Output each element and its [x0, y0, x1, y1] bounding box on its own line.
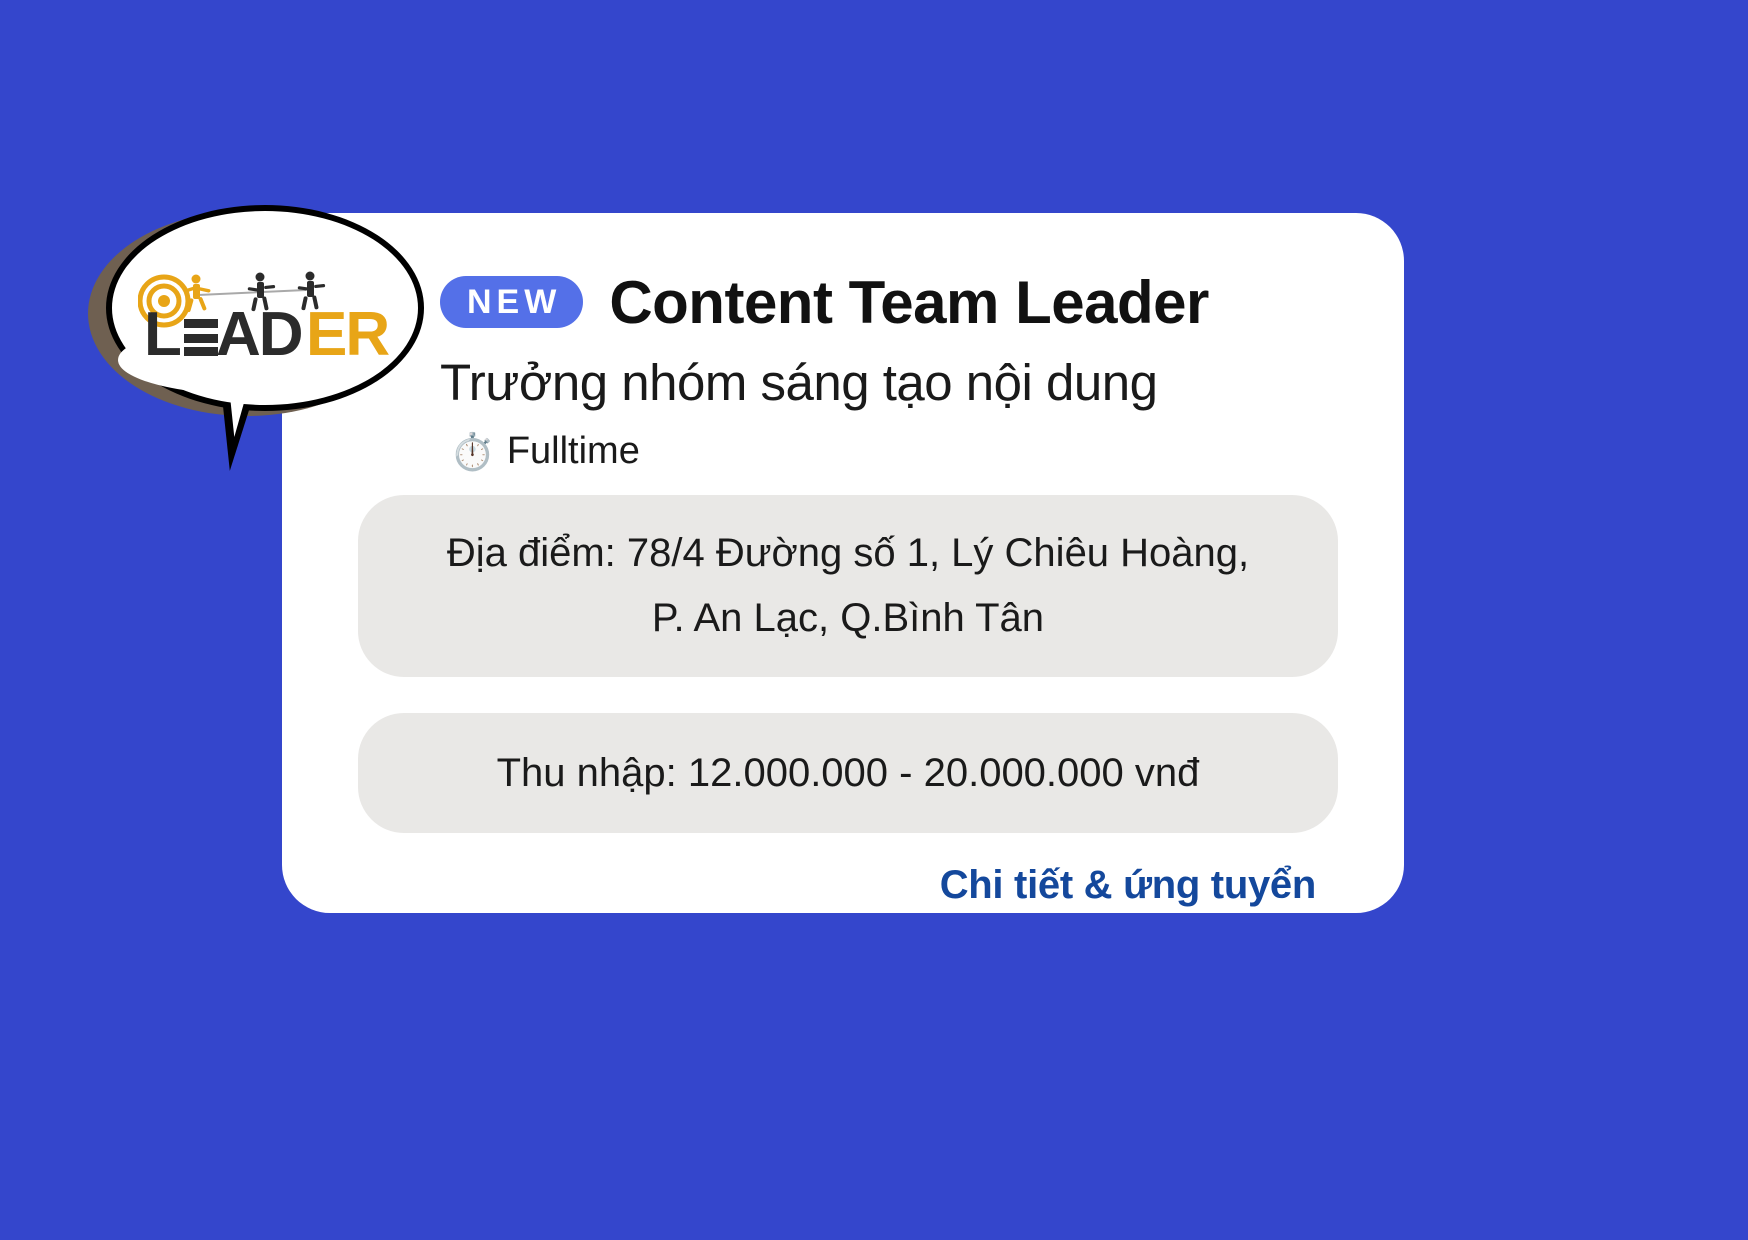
job-card-content: NEW Content Team Leader Trưởng nhóm sáng…: [440, 265, 1330, 873]
leader-wordmark-dark: L: [144, 300, 180, 359]
cta-row: Chi tiết & ứng tuyển: [358, 863, 1338, 908]
salary-line-1: Thu nhập: 12.000.000 - 20.000.000 vnđ: [398, 741, 1298, 806]
employment-type: ⏱️ Fulltime: [450, 430, 1330, 473]
job-title-row: NEW Content Team Leader: [440, 265, 1330, 339]
apply-details-link[interactable]: Chi tiết & ứng tuyển: [940, 863, 1316, 908]
leader-wordmark-e-bars: [184, 319, 218, 356]
leader-logo: L AD ER: [138, 267, 396, 359]
poster-background: NEW Content Team Leader Trưởng nhóm sáng…: [0, 0, 1748, 1240]
employment-type-label: Fulltime: [507, 430, 640, 473]
location-line-1: Địa điểm: 78/4 Đường số 1, Lý Chiêu Hoàn…: [398, 521, 1298, 586]
page-title: Content Team Leader: [609, 268, 1209, 337]
leader-wordmark-er: ER: [306, 300, 389, 359]
location-line-2: P. An Lạc, Q.Bình Tân: [398, 586, 1298, 651]
job-subtitle: Trưởng nhóm sáng tạo nội dung: [440, 353, 1330, 412]
speech-bubble: L AD ER: [88, 205, 433, 470]
stopwatch-icon: ⏱️: [450, 434, 495, 470]
leader-wordmark-ad: AD: [216, 300, 302, 359]
location-pill: Địa điểm: 78/4 Đường số 1, Lý Chiêu Hoàn…: [358, 495, 1338, 677]
runner-figure-gold: [186, 275, 211, 313]
salary-pill: Thu nhập: 12.000.000 - 20.000.000 vnđ: [358, 713, 1338, 834]
leader-logo-graphic: L AD ER: [138, 267, 396, 359]
job-card: NEW Content Team Leader Trưởng nhóm sáng…: [282, 213, 1404, 913]
status-badge-new: NEW: [440, 276, 583, 328]
